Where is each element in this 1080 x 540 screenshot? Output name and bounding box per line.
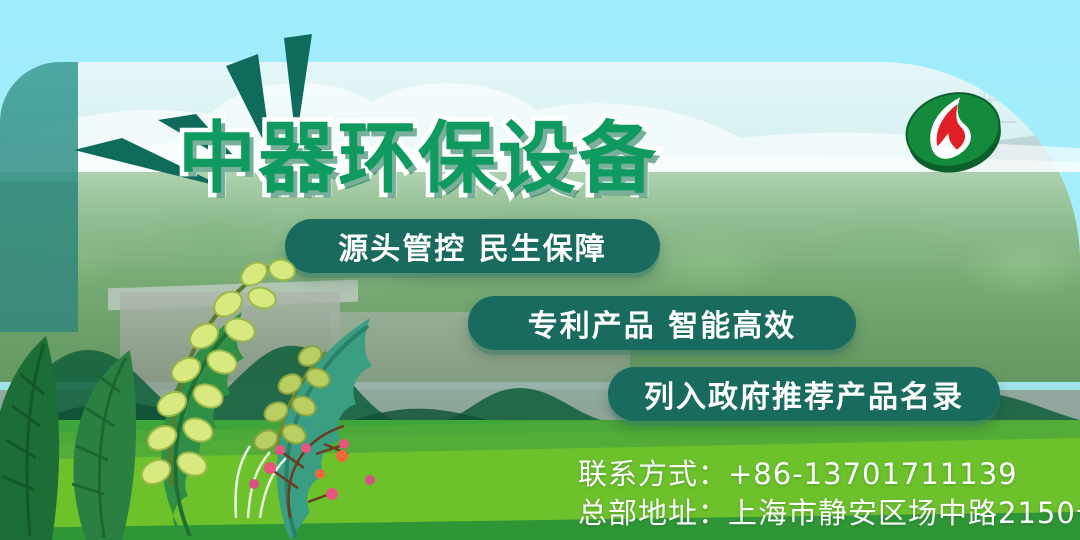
promotional-banner: 中器环保设备 源头管控 民生保障 专利产品 智能高效 列入政府推荐产品名录 联系… — [0, 0, 1080, 540]
contact-phone: 联系方式：+86-13701711139 — [578, 451, 1018, 493]
badge-government-list: 列入政府推荐产品名录 — [608, 367, 1000, 421]
badge-patented-product: 专利产品 智能高效 — [468, 296, 856, 350]
flower-sprig-decoration — [220, 410, 410, 520]
company-flame-leaf-logo — [898, 80, 1008, 180]
page-title: 中器环保设备 — [178, 96, 658, 208]
contact-address: 总部地址：上海市静安区场中路2150号 — [578, 490, 1080, 532]
